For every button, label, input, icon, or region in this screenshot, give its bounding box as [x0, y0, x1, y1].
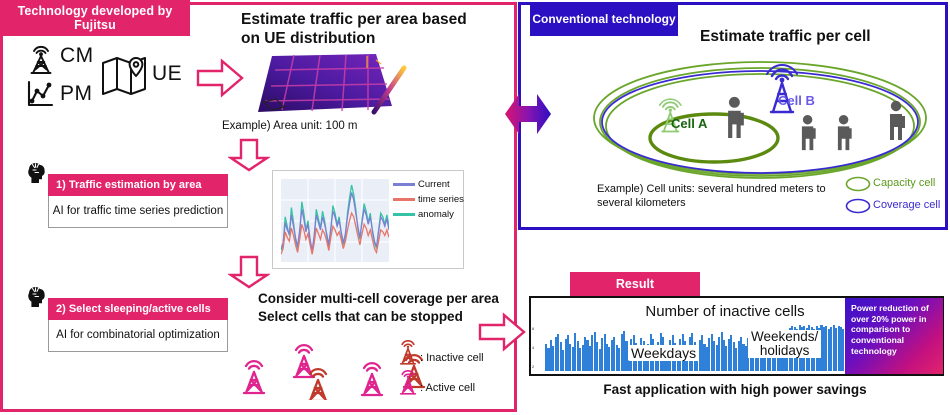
- legend-label-current: Current: [418, 179, 450, 190]
- step-1-body: AI for traffic time series prediction: [48, 196, 228, 228]
- time-series-legend: Current time series anomaly: [393, 177, 463, 222]
- coverage-cell-legend-label: Coverage cell: [873, 199, 940, 211]
- annotation-weekends: Weekends/holidays: [748, 330, 821, 358]
- input-label-cm: CM: [60, 44, 94, 68]
- legend-swatch-time-series: [393, 198, 415, 201]
- legend-icon-inactive-cell: [396, 340, 420, 371]
- power-reduction-callout: Power reduction of over 20% power in com…: [845, 298, 943, 374]
- cell-tower-icon: [24, 42, 58, 81]
- result-caption: Fast application with high power savings: [575, 382, 895, 397]
- legend-item-current: Current: [393, 177, 463, 192]
- ai-brain-icon: [24, 160, 50, 191]
- legend-label-time-series: time series: [418, 194, 464, 205]
- legend-item-time-series: time series: [393, 192, 463, 207]
- step-2-header: 2) Select sleeping/active cells: [48, 298, 228, 320]
- arrow-down-icon: [228, 255, 270, 294]
- result-chart-yaxis: 6 4 2: [532, 326, 542, 370]
- ytick-0: 6: [532, 326, 542, 331]
- ytick-1: 4: [532, 345, 542, 350]
- cell-units-caption: Example) Cell units: several hundred met…: [597, 182, 842, 211]
- result-badge: Result: [570, 272, 700, 296]
- ai-brain-icon: [24, 284, 50, 315]
- legend-label-inactive-cell: : Inactive cell: [420, 352, 484, 364]
- estimate-traffic-area-title: Estimate traffic per area based on UE di…: [241, 10, 481, 49]
- cell-b-label: Cell B: [778, 93, 815, 108]
- traffic-time-series-chart: Current time series anomaly: [272, 170, 464, 269]
- fujitsu-badge: Technology developed by Fujitsu: [0, 0, 190, 36]
- capacity-cell-legend-label: Capacity cell: [873, 177, 935, 189]
- step-2-body: AI for combinatorial optimization: [48, 320, 228, 352]
- estimate-traffic-cell-title: Estimate traffic per cell: [700, 28, 940, 46]
- legend-icon-active-cell: [396, 370, 420, 401]
- conventional-badge: Conventional technology: [530, 2, 678, 36]
- legend-label-anomaly: anomaly: [418, 209, 454, 220]
- ytick-2: 2: [532, 364, 542, 369]
- result-chart-title: Number of inactive cells: [560, 303, 890, 320]
- input-label-pm: PM: [60, 82, 93, 106]
- arrow-right-icon: [478, 312, 526, 357]
- bidirectional-arrow-icon: [503, 88, 553, 145]
- ue-distribution-heatmap: [248, 50, 408, 120]
- arrow-right-icon: [196, 58, 244, 103]
- area-unit-caption: Example) Area unit: 100 m: [222, 120, 358, 132]
- performance-chart-icon: [24, 78, 56, 115]
- legend-label-active-cell: : Active cell: [420, 382, 475, 394]
- legend-swatch-anomaly: [393, 213, 415, 216]
- map-pin-icon: [100, 52, 152, 105]
- arrow-down-icon: [228, 138, 270, 177]
- legend-swatch-current: [393, 183, 415, 186]
- capacity-cell-legend-icon: [845, 176, 871, 197]
- step-1-header: 1) Traffic estimation by area: [48, 174, 228, 196]
- time-series-plot-area: [281, 179, 389, 262]
- legend-item-anomaly: anomaly: [393, 207, 463, 222]
- coverage-cell-legend-icon: [845, 198, 871, 219]
- input-label-ue: UE: [152, 62, 182, 86]
- cell-a-label: Cell A: [671, 116, 707, 131]
- cell-coverage-diagram: [588, 52, 938, 182]
- annotation-weekdays: Weekdays: [628, 345, 699, 361]
